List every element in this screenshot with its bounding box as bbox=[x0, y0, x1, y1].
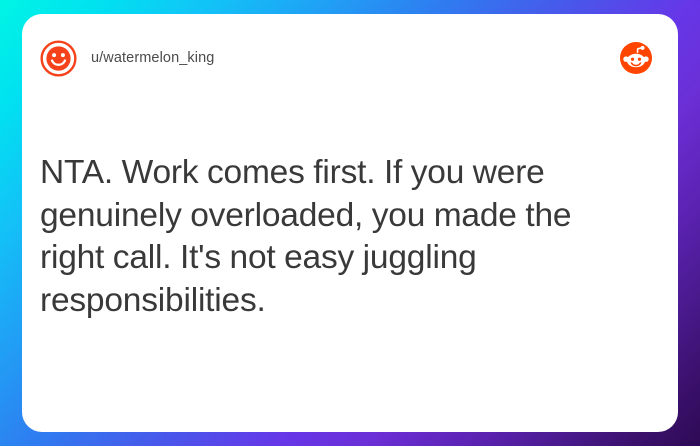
gradient-background: u/watermelon_king bbox=[0, 0, 700, 446]
reddit-comment-card: u/watermelon_king bbox=[22, 14, 678, 432]
smiley-face-avatar-icon[interactable] bbox=[40, 40, 77, 77]
username-label: u/watermelon_king bbox=[91, 50, 214, 66]
reddit-snoo-logo-icon[interactable] bbox=[620, 42, 652, 74]
comment-text: NTA. Work comes first. If you were genui… bbox=[40, 152, 640, 322]
card-header: u/watermelon_king bbox=[22, 14, 678, 102]
